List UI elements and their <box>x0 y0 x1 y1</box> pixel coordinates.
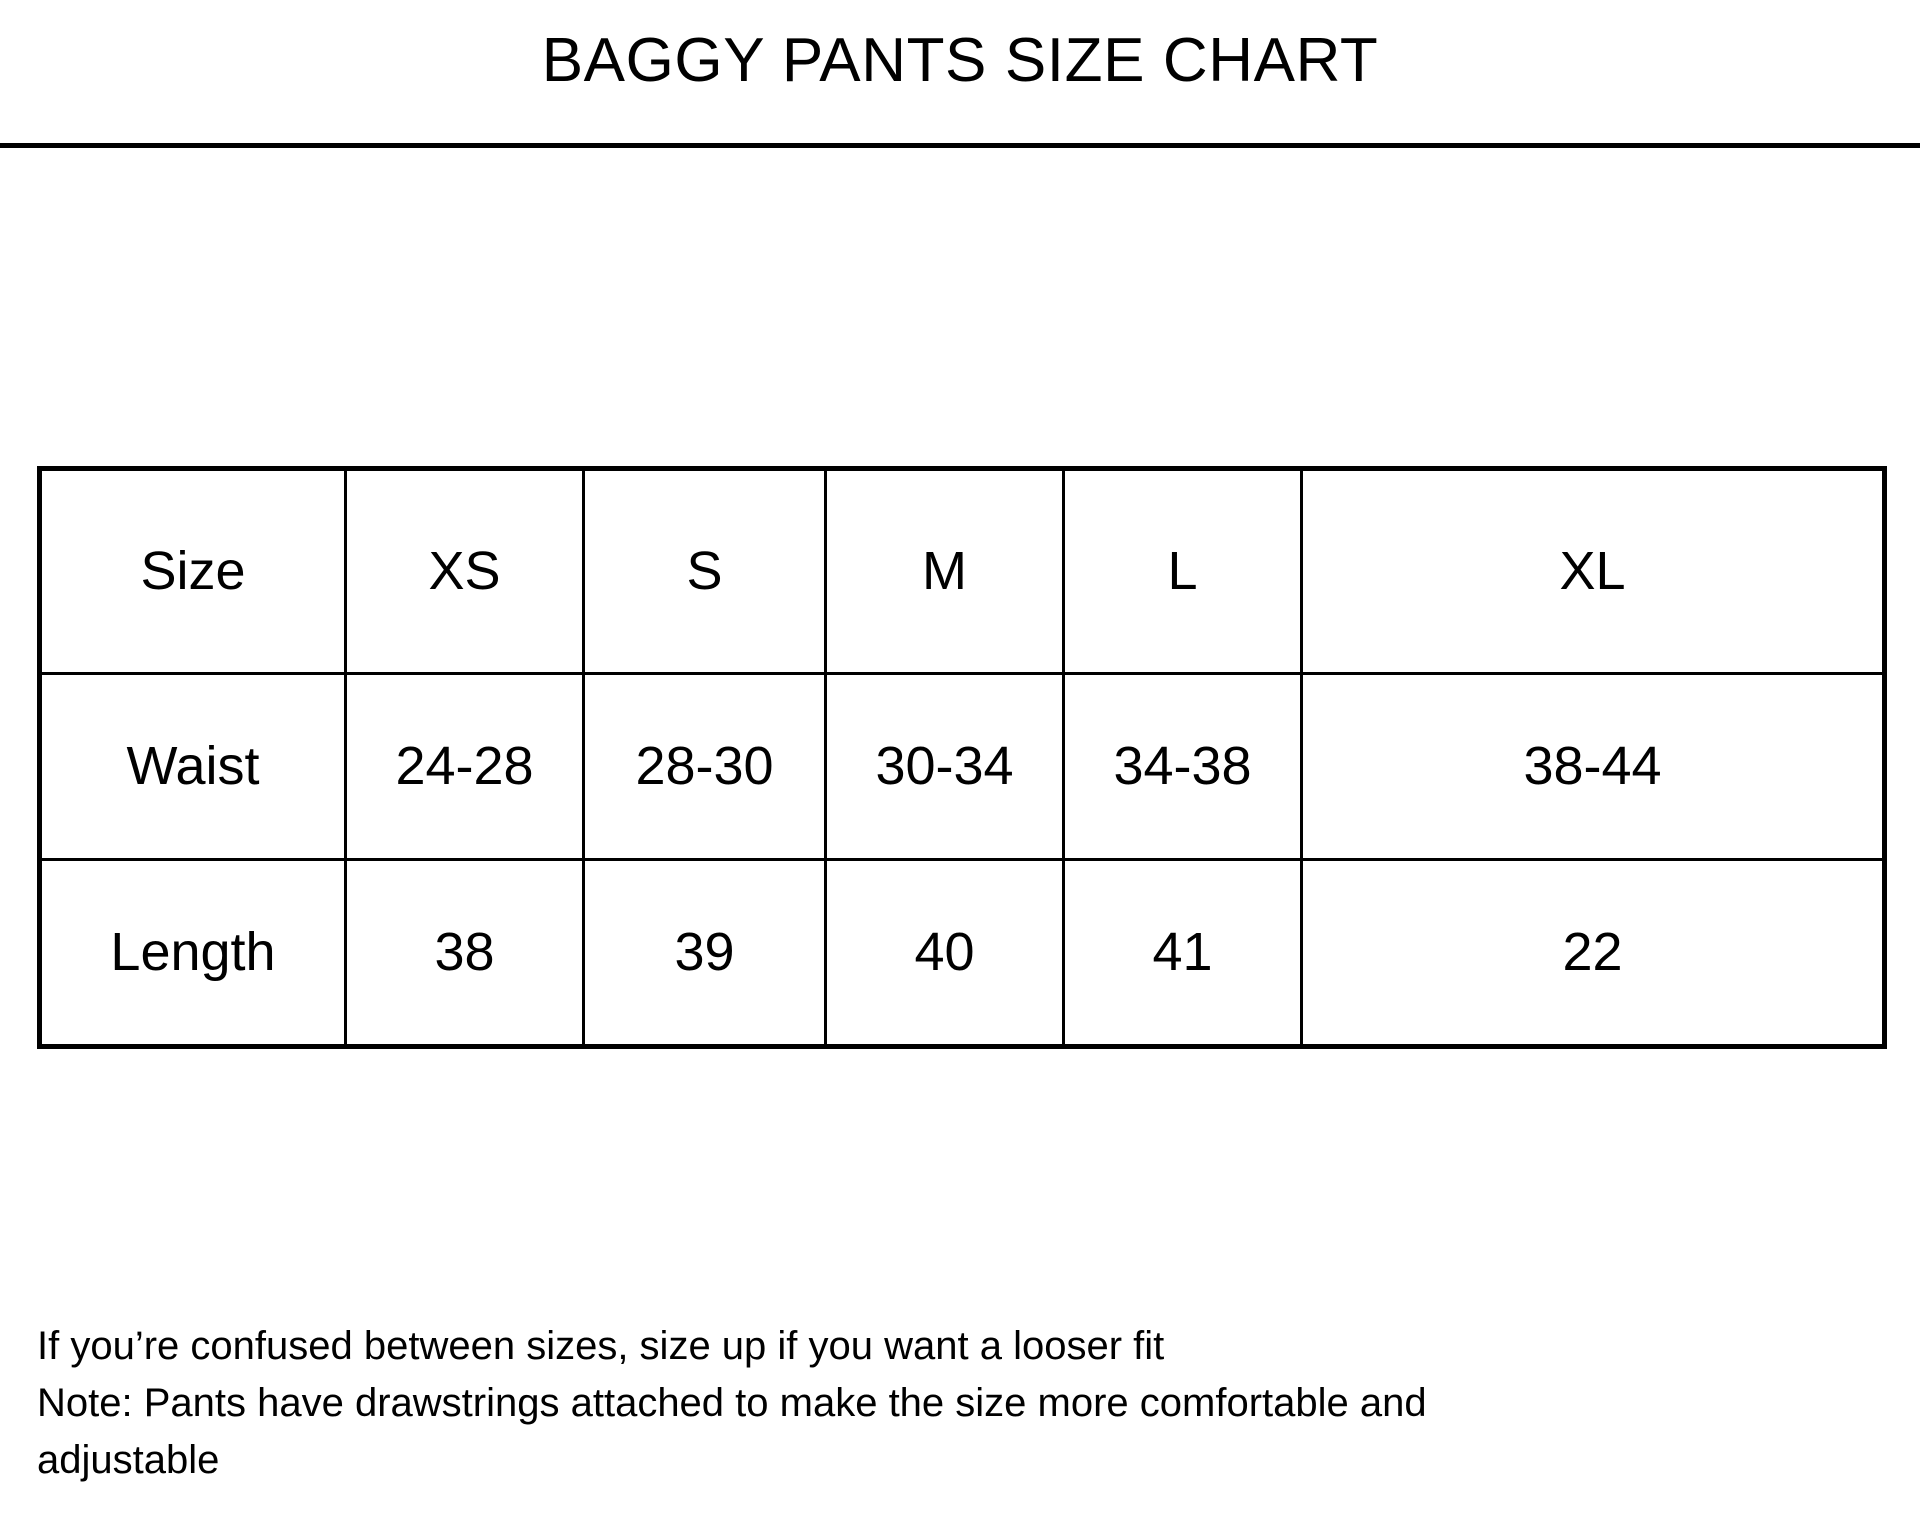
table-header-cell-s: S <box>584 469 826 674</box>
table-header-cell-size: Size <box>40 469 346 674</box>
row-label-waist: Waist <box>40 674 346 860</box>
cell-length-xs: 38 <box>346 860 584 1047</box>
table-row-length: Length 38 39 40 41 22 <box>40 860 1885 1047</box>
table-row-header: Size XS S M L XL <box>40 469 1885 674</box>
footer-notes: If you’re confused between sizes, size u… <box>37 1318 1882 1488</box>
cell-waist-m: 30-34 <box>826 674 1064 860</box>
cell-waist-xs: 24-28 <box>346 674 584 860</box>
note-drawstrings-main: Note: Pants have drawstrings attached to… <box>37 1381 1427 1425</box>
title-divider-rule <box>0 143 1920 148</box>
page-title: BAGGY PANTS SIZE CHART <box>0 26 1920 95</box>
table-row-waist: Waist 24-28 28-30 30-34 34-38 38-44 <box>40 674 1885 860</box>
table-header-cell-xl: XL <box>1302 469 1885 674</box>
cell-length-m: 40 <box>826 860 1064 1047</box>
cell-waist-s: 28-30 <box>584 674 826 860</box>
cell-waist-l: 34-38 <box>1064 674 1302 860</box>
table-header-cell-l: L <box>1064 469 1302 674</box>
cell-length-xl: 22 <box>1302 860 1885 1047</box>
size-chart-table: Size XS S M L XL Waist 24-28 28-30 30-34… <box>37 466 1887 1049</box>
cell-length-s: 39 <box>584 860 826 1047</box>
row-label-length: Length <box>40 860 346 1047</box>
note-drawstrings-tail: adjustable <box>37 1432 1882 1489</box>
size-chart-page: BAGGY PANTS SIZE CHART Size XS S M L XL … <box>0 0 1920 1536</box>
table-header-cell-xs: XS <box>346 469 584 674</box>
note-drawstrings: Note: Pants have drawstrings attached to… <box>37 1375 1882 1489</box>
table-header-cell-m: M <box>826 469 1064 674</box>
cell-length-l: 41 <box>1064 860 1302 1047</box>
note-sizing-advice: If you’re confused between sizes, size u… <box>37 1318 1882 1375</box>
size-chart-table-container: Size XS S M L XL Waist 24-28 28-30 30-34… <box>37 466 1882 1049</box>
cell-waist-xl: 38-44 <box>1302 674 1885 860</box>
